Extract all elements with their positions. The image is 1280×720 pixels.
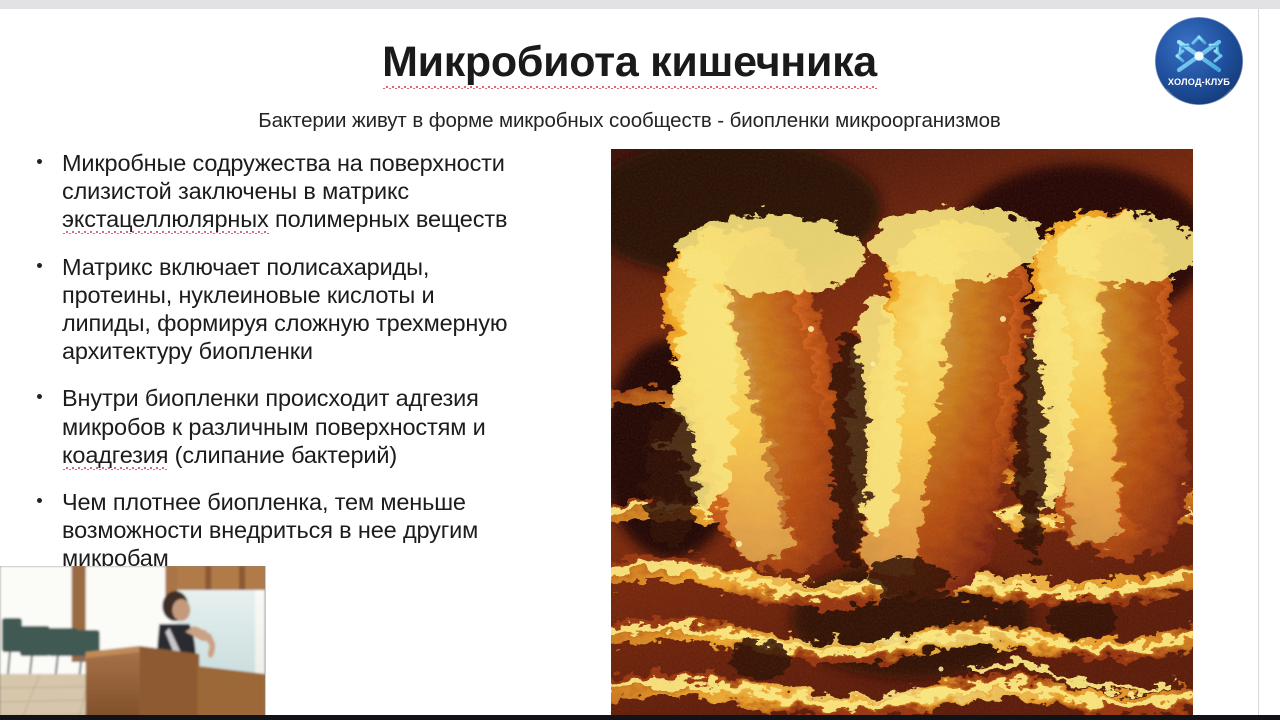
bullet-text-pre: Внутри биопленки происходит адгезия микр… bbox=[62, 385, 486, 439]
player-bottom-bar[interactable] bbox=[0, 715, 1280, 720]
bullet-text: Чем плотнее биопленка, тем меньше возмож… bbox=[62, 488, 601, 573]
misspelled-word: экстацеллюлярных bbox=[62, 206, 269, 234]
bullet-text-pre: Матрикс включает полисахариды, протеины,… bbox=[62, 254, 507, 365]
logo-text: ХОЛОД-КЛУБ bbox=[1168, 77, 1230, 87]
list-item: Матрикс включает полисахариды, протеины,… bbox=[26, 253, 601, 366]
bacteria-micrograph-image bbox=[611, 149, 1193, 719]
bullet-text-pre: Чем плотнее биопленка, тем меньше возмож… bbox=[62, 489, 478, 571]
holod-club-logo: ХОЛОД-КЛУБ bbox=[1153, 15, 1245, 107]
list-item: Микробные содружества на поверхности сли… bbox=[26, 149, 601, 234]
list-item: Внутри биопленки происходит адгезия микр… bbox=[26, 384, 601, 469]
page-title: Микробиота кишечника bbox=[382, 40, 877, 89]
slide-title-wrapper: Микробиота кишечника bbox=[0, 40, 1259, 89]
bullet-dot-icon bbox=[37, 394, 42, 399]
player-right-gutter bbox=[1258, 9, 1280, 720]
bullet-list: Микробные содружества на поверхности сли… bbox=[26, 149, 601, 591]
bullet-text: Микробные содружества на поверхности сли… bbox=[62, 149, 601, 234]
slide-subtitle: Бактерии живут в форме микробных сообщес… bbox=[0, 109, 1259, 133]
bullet-text-post: полимерных веществ bbox=[269, 206, 508, 232]
bullet-text: Внутри биопленки происходит адгезия микр… bbox=[62, 384, 601, 469]
bullet-dot-icon bbox=[37, 498, 42, 503]
bullet-dot-icon bbox=[37, 159, 42, 164]
speaker-video-inset[interactable] bbox=[0, 566, 266, 720]
bullet-text: Матрикс включает полисахариды, протеины,… bbox=[62, 253, 601, 366]
misspelled-word: коадгезия bbox=[62, 442, 168, 470]
bullet-dot-icon bbox=[37, 263, 42, 268]
bullet-text-pre: Микробные содружества на поверхности сли… bbox=[62, 150, 505, 204]
presentation-video-frame: Микробиота кишечника Бактерии живут в фо… bbox=[0, 0, 1280, 720]
slide-surface: Микробиота кишечника Бактерии живут в фо… bbox=[0, 9, 1259, 715]
top-strip bbox=[0, 0, 1280, 9]
list-item: Чем плотнее биопленка, тем меньше возмож… bbox=[26, 488, 601, 573]
bullet-text-post: (слипание бактерий) bbox=[168, 442, 397, 468]
